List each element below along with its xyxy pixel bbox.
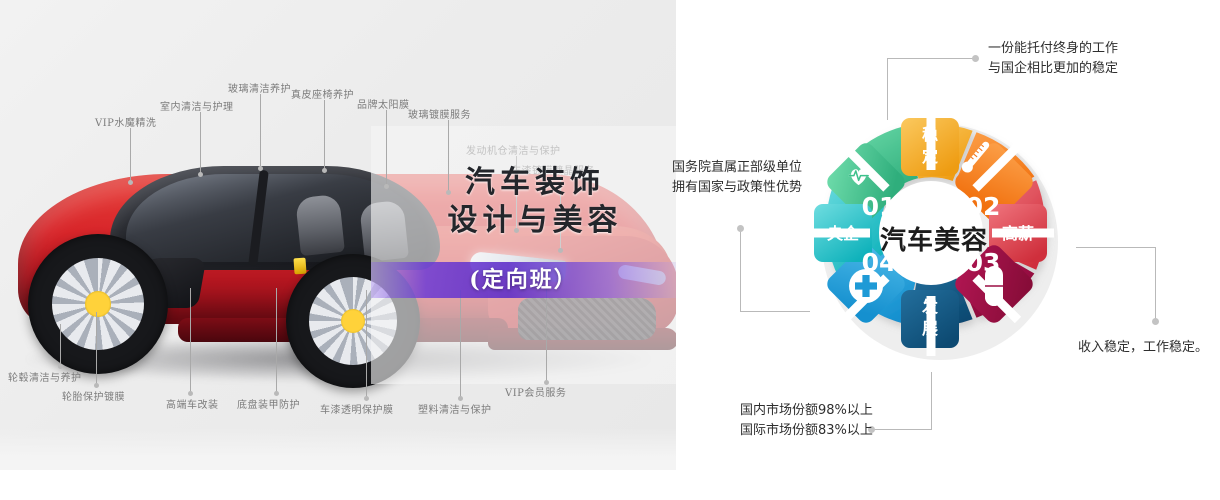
wedge-label-fazhan-1: 发 — [921, 297, 939, 316]
screenshot-root: VIP水魔精洗室内清洁与护理玻璃清洁养护真皮座椅养护品牌太阳膜玻璃镀膜服务发动机… — [0, 0, 1220, 500]
car-callout-line — [190, 288, 191, 393]
car-callout-line — [324, 100, 325, 170]
note-top-line-2: 与国企相比更加的稳定 — [988, 59, 1118, 79]
leader-top-dot — [972, 55, 979, 62]
leader-bottom-vertical — [931, 372, 932, 430]
wheel-hub-cap — [341, 309, 365, 333]
wheel-hub-cap — [85, 291, 110, 316]
leader-top-vertical — [887, 58, 888, 120]
car-rear-wheel — [28, 234, 168, 374]
car-callout-label: 发动机仓清洁与保护 — [466, 142, 561, 157]
note-bottom-line-1: 国内市场份额98%以上 — [740, 401, 864, 421]
note-bottom: 国内市场份额98%以上 国际市场份额83%以上 — [740, 401, 864, 441]
car-callout-label: 玻璃清洁养护 — [228, 80, 291, 95]
car-callout-dot — [198, 172, 203, 177]
car-callout-line — [200, 112, 201, 174]
banner-title-line-2: 设计与美容 — [420, 202, 650, 240]
wedge-label-fazhan-2: 展 — [922, 319, 939, 338]
car-callout-dot — [128, 180, 133, 185]
car-callout-line — [386, 110, 387, 186]
note-right: 收入稳定，工作稳定。 — [1078, 338, 1208, 358]
banner-title-line-1: 汽车装饰 — [420, 164, 650, 202]
car-callout-line — [276, 288, 277, 393]
leader-top-horizontal — [887, 58, 975, 59]
car-callout-dot — [558, 248, 563, 253]
car-callout-label: 塑料清洁与保护 — [418, 401, 492, 416]
car-callout-label: 轮毂清洁与养护 — [8, 369, 82, 384]
leader-left-vertical — [740, 228, 741, 312]
car-callout-line — [460, 290, 461, 398]
car-callout-label: 底盘装甲防护 — [237, 396, 300, 411]
banner-title: 汽车装饰 设计与美容 — [420, 164, 650, 241]
car-callout-line — [96, 312, 97, 385]
car-callout-dot — [258, 166, 263, 171]
car-callout-label: 真皮座椅养护 — [291, 86, 354, 101]
car-callout-dot — [544, 380, 549, 385]
car-callout-dot — [322, 168, 327, 173]
car-banner-panel: VIP水魔精洗室内清洁与护理玻璃清洁养护真皮座椅养护品牌太阳膜玻璃镀膜服务发动机… — [0, 0, 676, 470]
car-callout-dot — [94, 383, 99, 388]
car-callout-dot — [58, 364, 63, 369]
car-callout-dot — [274, 391, 279, 396]
wedge-label-wending-1: 稳 — [922, 125, 938, 144]
car-callout-dot — [364, 396, 369, 401]
car-callout-label: 高端车改装 — [166, 396, 219, 411]
note-bottom-line-2: 国际市场份额83%以上 — [740, 421, 864, 441]
car-seat — [295, 194, 345, 256]
leader-right-horizontal — [1076, 247, 1156, 248]
car-callout-line — [366, 290, 367, 398]
wedge-label-yangqi: 央企 — [827, 224, 860, 243]
leader-left-dot — [737, 225, 744, 232]
leader-right-vertical — [1155, 247, 1156, 321]
wedge-label-gaoxin: 高薪 — [1002, 224, 1034, 243]
car-callout-line — [260, 94, 261, 168]
car-callout-label: VIP会员服务 — [505, 384, 566, 399]
leader-left-horizontal — [740, 311, 810, 312]
class-type-label: (定向班） — [371, 262, 676, 298]
car-callout-line — [130, 128, 131, 182]
car-callout-line — [60, 324, 61, 366]
car-callout-label: 轮胎保护镀膜 — [62, 388, 125, 403]
car-callout-label: 室内清洁与护理 — [160, 98, 234, 113]
donut-center-title: 汽车美容 — [869, 220, 999, 257]
note-right-line-1: 收入稳定，工作稳定。 — [1078, 338, 1208, 358]
note-left: 国务院直属正部级单位 拥有国家与政策性优势 — [662, 158, 802, 198]
note-top: 一份能托付终身的工作 与国企相比更加的稳定 — [988, 39, 1118, 79]
class-type-banner: (定向班） — [371, 262, 676, 298]
car-callout-label: 玻璃镀膜服务 — [408, 106, 471, 121]
wedge-number-01: 01 — [862, 192, 897, 221]
car-callout-label: 车漆透明保护膜 — [320, 401, 394, 416]
car-callout-dot — [384, 184, 389, 189]
car-callout-dot — [188, 391, 193, 396]
note-top-line-1: 一份能托付终身的工作 — [988, 39, 1118, 59]
donut-diagram-panel: 01 02 03 04 稳 定 高薪 发 展 央企 汽车美容 — [676, 0, 1220, 500]
note-left-line-1: 国务院直属正部级单位 — [662, 158, 802, 178]
leader-right-dot — [1152, 318, 1159, 325]
car-callout-dot — [458, 396, 463, 401]
car-emblem — [293, 258, 306, 275]
wedge-number-02: 02 — [966, 192, 1001, 221]
leader-bottom-horizontal — [872, 429, 932, 430]
car-callout-label: VIP水魔精洗 — [95, 114, 156, 129]
car-callout-label: 品牌太阳膜 — [357, 96, 410, 111]
wedge-label-wending-2: 定 — [921, 147, 938, 166]
note-left-line-2: 拥有国家与政策性优势 — [662, 178, 802, 198]
